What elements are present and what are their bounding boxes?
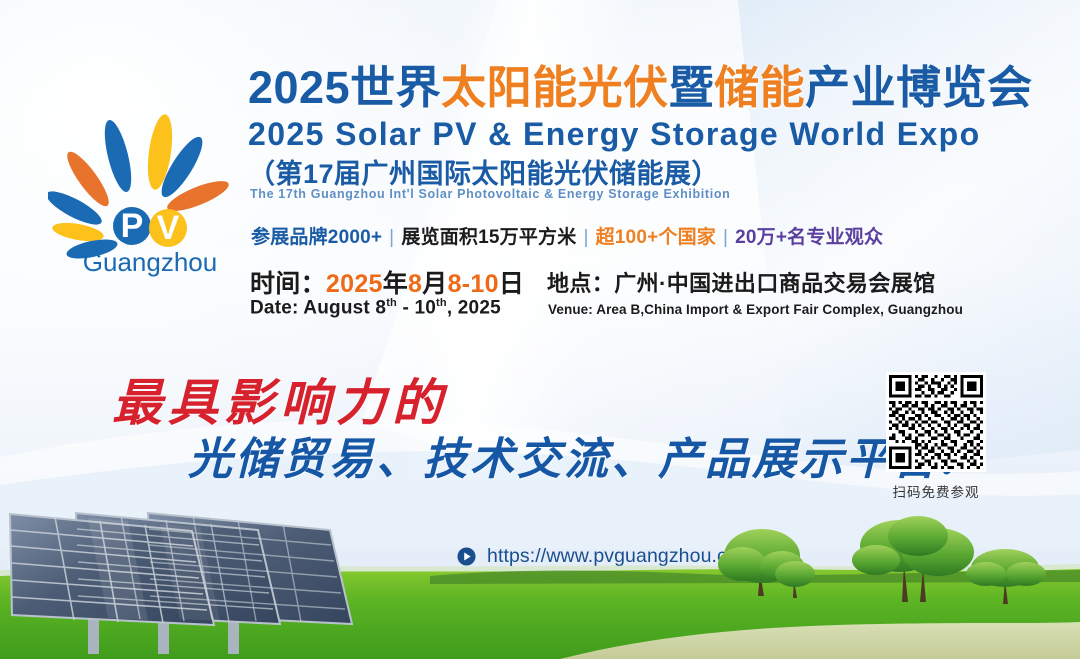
date-english: Date: August 8th - 10th, 2025 xyxy=(250,297,501,319)
venue-english: Venue: Area B,China Import & Export Fair… xyxy=(548,302,963,317)
slogan-line-2: 光储贸易、技术交流、产品展示平台! xyxy=(188,423,962,487)
stat-item-visitors: 20万+名专业观众 xyxy=(735,227,883,248)
headline-cn-seg-3: 暨 xyxy=(669,62,715,113)
date-cn-year-unit: 年 xyxy=(383,270,408,298)
svg-text:V: V xyxy=(157,209,180,247)
website-row[interactable]: https://www.pvguangzhou.com xyxy=(457,541,754,571)
expo-poster: P V Guangzhou 2025世界太阳能光伏暨储能产业博览会 2025 S… xyxy=(0,0,1080,659)
stats-separator-1: | xyxy=(382,227,401,248)
stats-separator-3: | xyxy=(716,227,735,248)
date-cn-days: 8-10 xyxy=(448,270,499,298)
date-en-mid: - xyxy=(397,297,415,318)
date-cn-month-unit: 月 xyxy=(422,270,447,298)
headline-block: 2025世界太阳能光伏暨储能产业博览会 2025 Solar PV & Ener… xyxy=(248,62,1038,153)
date-en-prefix: Date: August xyxy=(250,297,375,318)
phone-text: 4006-258-268 xyxy=(487,580,610,603)
stat-item-countries: 超100+个国家 xyxy=(596,227,716,248)
stat-item-brands: 参展品牌2000+ xyxy=(251,227,382,248)
date-cn-month: 8 xyxy=(408,270,422,298)
contact-block: https://www.pvguangzhou.com 4006-258-268 xyxy=(457,541,754,606)
headline-cn-seg-4: 储能 xyxy=(714,62,805,113)
qr-code-caption: 扫码免费参观 xyxy=(874,481,998,501)
subtitle-english: The 17th Guangzhou Int'l Solar Photovolt… xyxy=(250,187,730,201)
date-en-day2: 10 xyxy=(414,297,436,318)
date-en-suffix: , 2025 xyxy=(447,297,501,318)
qr-code-icon xyxy=(889,375,983,469)
subtitle-chinese: （第17届广州国际太阳能光伏储能展） xyxy=(248,152,719,191)
website-text: https://www.pvguangzhou.com xyxy=(487,545,754,568)
headline-chinese: 2025世界太阳能光伏暨储能产业博览会 xyxy=(248,62,1038,114)
date-cn-year: 2025 xyxy=(326,270,383,298)
headline-cn-seg-5: 产业博览会 xyxy=(805,62,1033,113)
date-cn-label: 时间： xyxy=(250,270,326,298)
date-en-day1: 8 xyxy=(375,297,386,318)
sun-petals-icon: P V Guangzhou xyxy=(48,104,238,284)
tree-group xyxy=(718,516,1046,604)
play-circle-icon xyxy=(457,547,476,566)
headline-cn-seg-1: 2025世界 xyxy=(248,62,441,113)
phone-row[interactable]: 4006-258-268 xyxy=(457,576,754,606)
svg-text:Guangzhou: Guangzhou xyxy=(83,247,217,277)
headline-english: 2025 Solar PV & Energy Storage World Exp… xyxy=(248,115,1038,153)
qr-code[interactable] xyxy=(886,372,986,472)
stats-separator-2: | xyxy=(576,227,595,248)
pv-guangzhou-logo[interactable]: P V Guangzhou xyxy=(48,104,238,284)
svg-text:P: P xyxy=(121,207,144,245)
date-cn-day-unit: 日 xyxy=(499,270,524,298)
venue-chinese: 地点：广州·中国进出口商品交易会展馆 xyxy=(547,266,936,298)
solar-panel-array xyxy=(10,513,352,654)
date-en-sup2: th xyxy=(436,297,447,309)
stat-item-area: 展览面积15万平方米 xyxy=(401,227,576,248)
date-chinese: 时间：2025年8月8-10日 xyxy=(250,264,524,300)
phone-circle-icon xyxy=(457,582,476,601)
stats-strip: 参展品牌2000+|展览面积15万平方米|超100+个国家|20万+名专业观众 xyxy=(251,222,883,249)
date-en-sup1: th xyxy=(386,297,397,309)
headline-cn-seg-2: 太阳能光伏 xyxy=(441,62,669,113)
